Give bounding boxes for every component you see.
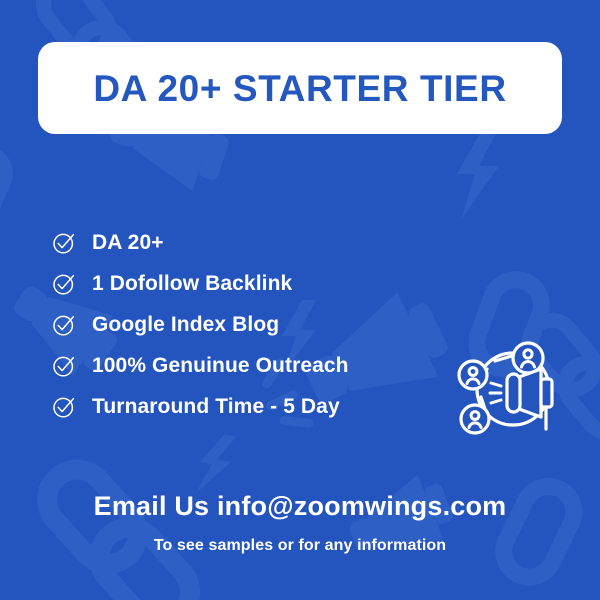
list-item: Google Index Blog [52,304,492,345]
check-circle-icon [52,313,76,337]
footer-note: To see samples or for any information [0,536,600,555]
list-item-label: Google Index Blog [92,314,279,335]
list-item: 100% Genuinue Outreach [52,345,492,386]
megaphone-outreach-icon [457,339,565,439]
footer: Email Us info@zoomwings.com To see sampl… [0,490,600,556]
lightning-bolt-icon [457,128,499,220]
megaphone-icon [490,369,552,429]
avatar [459,361,487,389]
page-title: DA 20+ STARTER TIER [93,70,506,107]
feature-list: DA 20+ 1 Dofollow Backlink Google Index … [52,222,492,427]
avatar [461,405,489,433]
promo-poster: DA 20+ STARTER TIER DA 20+ 1 Dofollow Ba… [0,0,600,600]
check-circle-icon [52,354,76,378]
list-item: Turnaround Time - 5 Day [52,386,492,427]
lightning-bolt-icon [194,430,237,499]
list-item: DA 20+ [52,222,492,263]
check-circle-icon [52,395,76,419]
title-card: DA 20+ STARTER TIER [38,42,562,134]
list-item-label: 100% Genuinue Outreach [92,355,349,376]
check-circle-icon [52,272,76,296]
list-item-label: DA 20+ [92,232,164,253]
email-contact-line[interactable]: Email Us info@zoomwings.com [0,490,600,522]
list-item-label: Turnaround Time - 5 Day [92,396,340,417]
list-item-label: 1 Dofollow Backlink [92,273,292,294]
chain-link-icon [0,137,22,244]
list-item: 1 Dofollow Backlink [52,263,492,304]
check-circle-icon [52,231,76,255]
